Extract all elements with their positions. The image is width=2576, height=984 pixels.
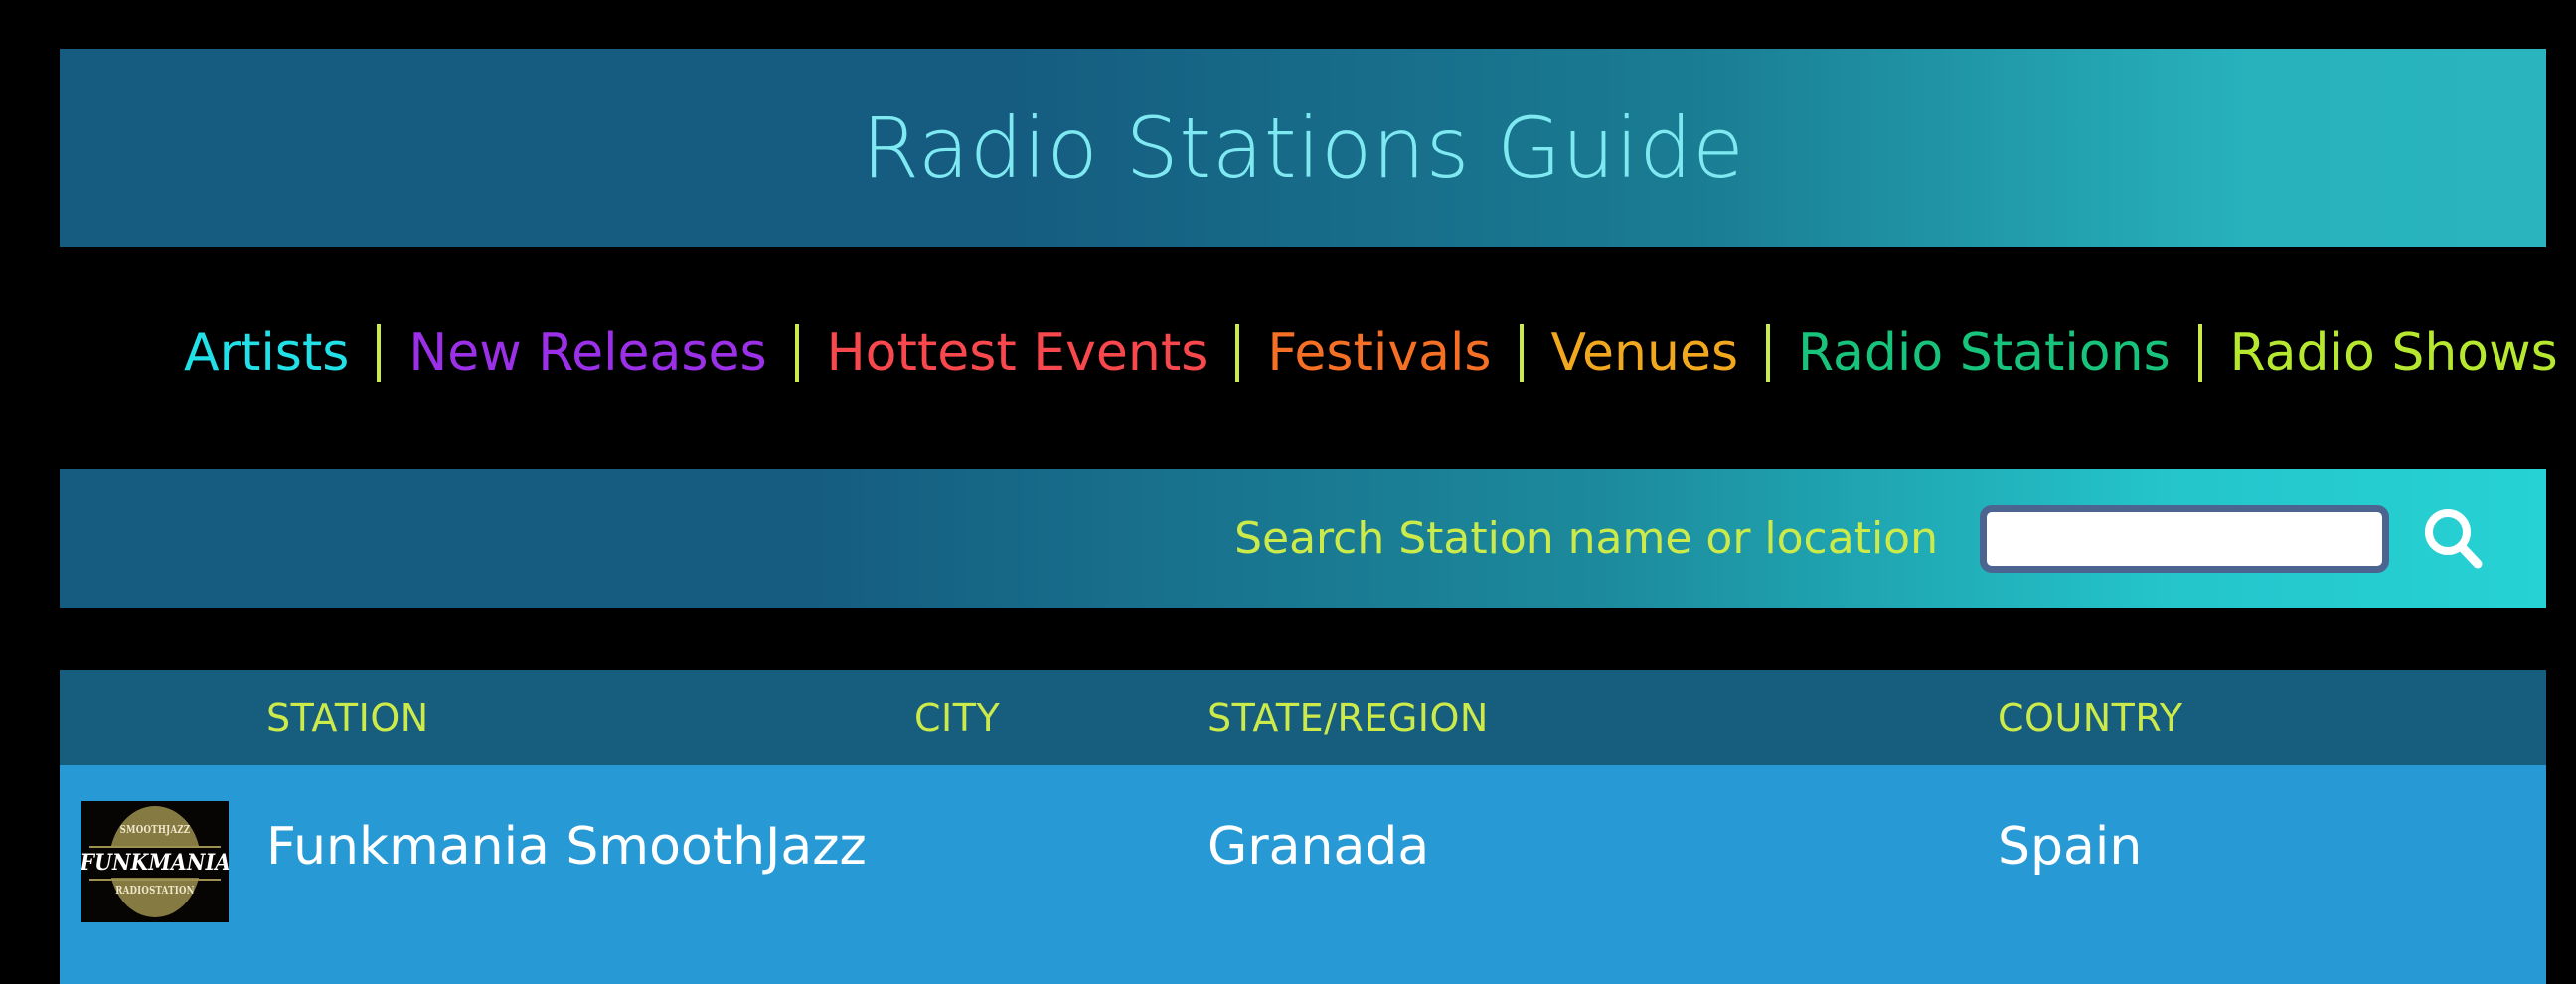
search-icon [2417, 503, 2489, 574]
station-logo: SMOOTHJAZZ FUNKMANIA RADIOSTATION [81, 801, 229, 922]
nav-separator [1235, 324, 1239, 382]
nav-separator [1520, 324, 1524, 382]
column-header-country[interactable]: COUNTRY [1998, 696, 2183, 739]
logo-rule-bottom [89, 879, 221, 881]
search-input[interactable] [1980, 505, 2389, 573]
nav-item-radio-stations[interactable]: Radio Stations [1798, 327, 2171, 379]
page-root: Radio Stations Guide Artists New Release… [0, 0, 2576, 984]
search-label: Search Station name or location [1234, 517, 1938, 561]
nav-item-festivals[interactable]: Festivals [1267, 327, 1491, 379]
nav-item-radio-shows[interactable]: Radio Shows [2230, 327, 2558, 379]
nav-item-artists[interactable]: Artists [184, 327, 349, 379]
cell-station[interactable]: Funkmania SmoothJazz [266, 817, 867, 877]
stations-table: STATION CITY STATE/REGION COUNTRY SMOOTH… [60, 670, 2546, 984]
column-header-city[interactable]: CITY [914, 696, 1000, 739]
logo-center-band: FUNKMANIA [81, 848, 229, 878]
cell-state-region: Granada [1207, 817, 1429, 877]
column-header-station[interactable]: STATION [266, 696, 429, 739]
table-header-row: STATION CITY STATE/REGION COUNTRY [60, 670, 2546, 765]
nav-separator [2198, 324, 2202, 382]
search-submit-button[interactable] [2411, 497, 2495, 580]
main-navigation: Artists New Releases Hottest Events Fest… [60, 313, 2546, 393]
column-header-state-region[interactable]: STATE/REGION [1207, 696, 1489, 739]
logo-bottom-text: RADIOSTATION [97, 884, 212, 897]
nav-separator [795, 324, 799, 382]
cell-country: Spain [1998, 817, 2142, 877]
logo-top-text: SMOOTHJAZZ [97, 823, 212, 836]
search-bar: Search Station name or location [60, 469, 2546, 608]
nav-item-hottest-events[interactable]: Hottest Events [827, 327, 1208, 379]
nav-separator [1766, 324, 1770, 382]
logo-main-text: FUNKMANIA [81, 852, 229, 874]
page-title: Radio Stations Guide [862, 106, 1745, 190]
nav-item-venues[interactable]: Venues [1551, 327, 1739, 379]
header-banner: Radio Stations Guide [60, 49, 2546, 247]
table-row[interactable]: SMOOTHJAZZ FUNKMANIA RADIOSTATION Funkma… [60, 765, 2546, 984]
nav-item-new-releases[interactable]: New Releases [408, 327, 766, 379]
nav-separator [377, 324, 381, 382]
